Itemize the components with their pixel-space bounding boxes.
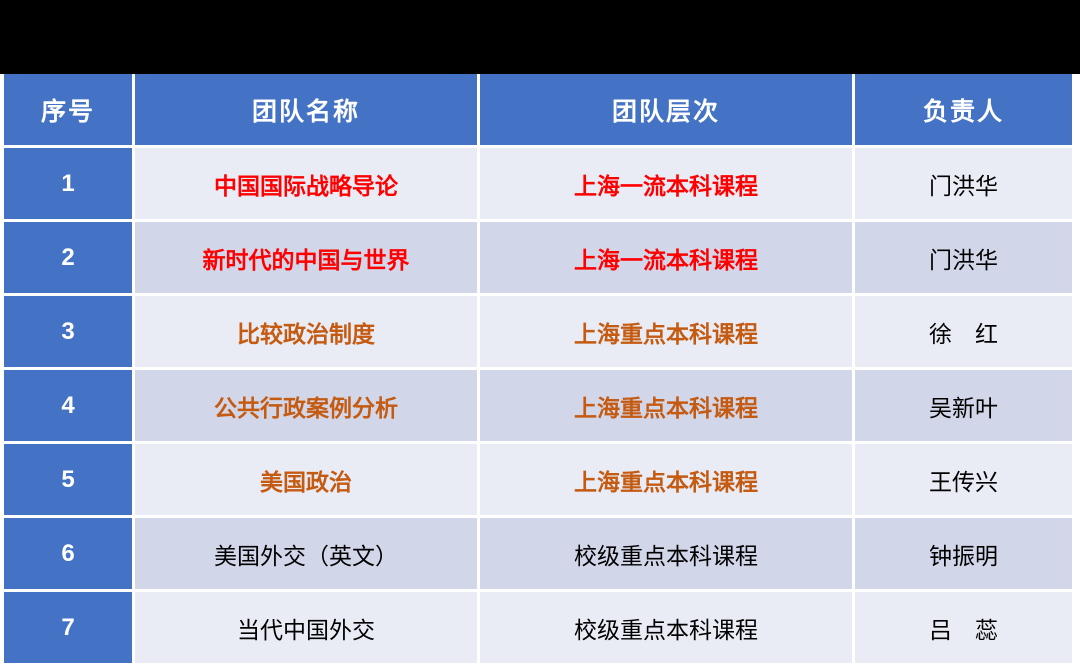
cell-seq: 1 <box>4 148 135 222</box>
cell-team-head: 王传兴 <box>855 444 1072 518</box>
cell-seq: 3 <box>4 296 135 370</box>
cell-team-head: 钟振明 <box>855 518 1072 592</box>
cell-team-level: 校级重点本科课程 <box>480 518 855 592</box>
cell-seq: 4 <box>4 370 135 444</box>
column-header-head: 负责人 <box>855 74 1072 148</box>
table-row: 3比较政治制度上海重点本科课程徐 红 <box>4 296 1072 370</box>
table-row: 1中国国际战略导论上海一流本科课程门洪华 <box>4 148 1072 222</box>
table-row: 6美国外交（英文）校级重点本科课程钟振明 <box>4 518 1072 592</box>
cell-seq: 2 <box>4 222 135 296</box>
cell-team-head: 门洪华 <box>855 148 1072 222</box>
slide-canvas: 序号 团队名称 团队层次 负责人 1中国国际战略导论上海一流本科课程门洪华2新时… <box>0 0 1080 668</box>
table-row: 5美国政治上海重点本科课程王传兴 <box>4 444 1072 518</box>
cell-team-head: 吴新叶 <box>855 370 1072 444</box>
header-row: 序号 团队名称 团队层次 负责人 <box>4 74 1072 148</box>
cell-team-level: 上海重点本科课程 <box>480 370 855 444</box>
cell-team-name: 当代中国外交 <box>135 592 480 666</box>
course-table-container: 序号 团队名称 团队层次 负责人 1中国国际战略导论上海一流本科课程门洪华2新时… <box>4 74 1072 668</box>
cell-team-level: 上海一流本科课程 <box>480 148 855 222</box>
cell-seq: 5 <box>4 444 135 518</box>
cell-team-level: 上海重点本科课程 <box>480 444 855 518</box>
cell-team-name: 比较政治制度 <box>135 296 480 370</box>
cell-team-name: 中国国际战略导论 <box>135 148 480 222</box>
cell-team-level: 上海重点本科课程 <box>480 296 855 370</box>
top-letterbox-bar <box>0 0 1080 74</box>
cell-team-head: 徐 红 <box>855 296 1072 370</box>
cell-seq: 7 <box>4 592 135 666</box>
table-row: 2新时代的中国与世界上海一流本科课程门洪华 <box>4 222 1072 296</box>
course-team-table: 序号 团队名称 团队层次 负责人 1中国国际战略导论上海一流本科课程门洪华2新时… <box>4 74 1072 666</box>
cell-team-level: 上海一流本科课程 <box>480 222 855 296</box>
cell-seq: 6 <box>4 518 135 592</box>
column-header-seq: 序号 <box>4 74 135 148</box>
table-row: 7当代中国外交校级重点本科课程吕 蕊 <box>4 592 1072 666</box>
cell-team-head: 吕 蕊 <box>855 592 1072 666</box>
cell-team-name: 美国外交（英文） <box>135 518 480 592</box>
column-header-name: 团队名称 <box>135 74 480 148</box>
table-row: 4公共行政案例分析上海重点本科课程吴新叶 <box>4 370 1072 444</box>
cell-team-name: 公共行政案例分析 <box>135 370 480 444</box>
table-header: 序号 团队名称 团队层次 负责人 <box>4 74 1072 148</box>
column-header-level: 团队层次 <box>480 74 855 148</box>
cell-team-name: 新时代的中国与世界 <box>135 222 480 296</box>
table-body: 1中国国际战略导论上海一流本科课程门洪华2新时代的中国与世界上海一流本科课程门洪… <box>4 148 1072 666</box>
cell-team-level: 校级重点本科课程 <box>480 592 855 666</box>
cell-team-head: 门洪华 <box>855 222 1072 296</box>
cell-team-name: 美国政治 <box>135 444 480 518</box>
